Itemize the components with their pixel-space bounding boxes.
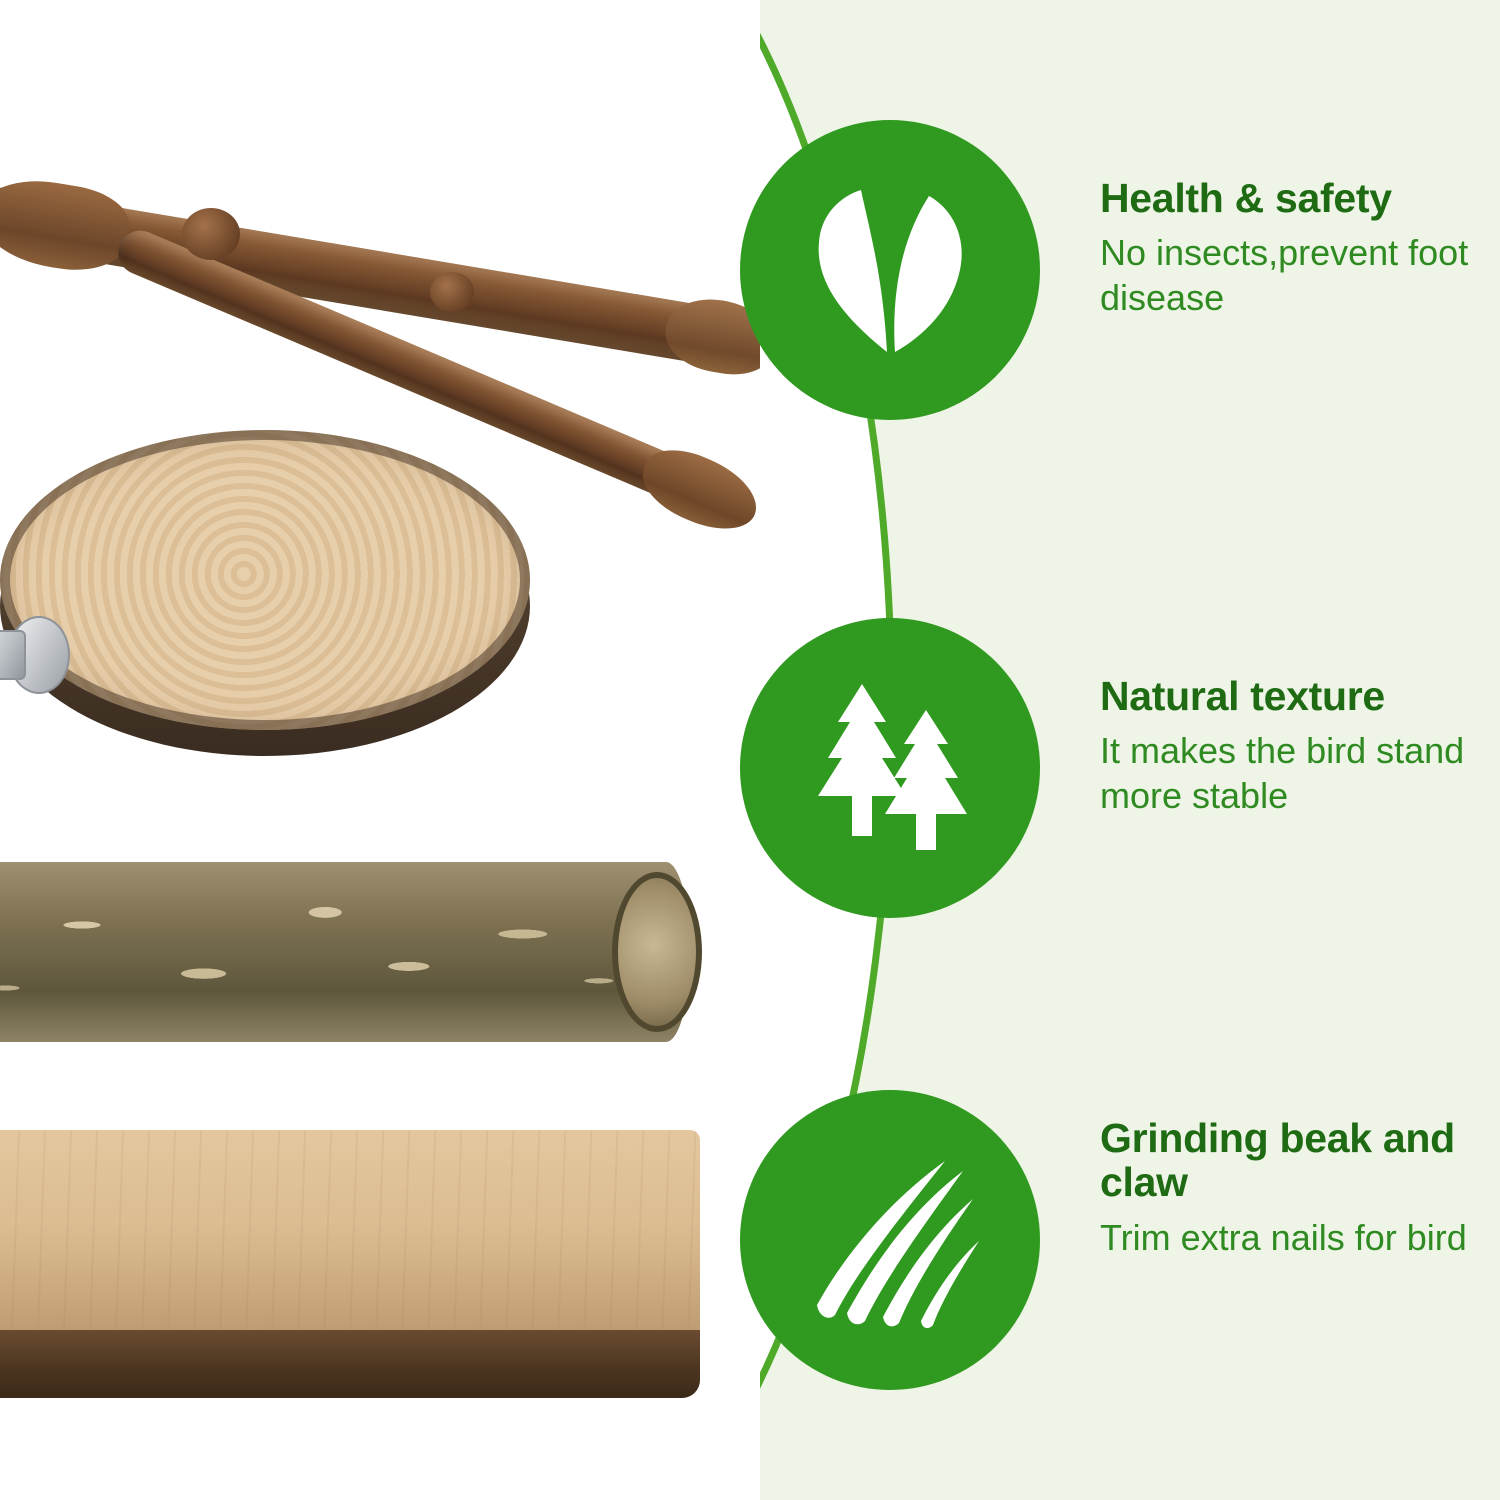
knobby-log-perch bbox=[0, 862, 690, 1042]
board-bark-underside bbox=[0, 1330, 700, 1398]
feature-item-health-safety: Health & safety No insects,prevent foot … bbox=[740, 120, 1500, 420]
flat-board-perch bbox=[0, 1130, 700, 1360]
feature-description: It makes the bird stand more stable bbox=[1100, 728, 1500, 818]
feature-title: Grinding beak and claw bbox=[1100, 1116, 1500, 1205]
feature-icon-badge bbox=[740, 1090, 1040, 1390]
product-feature-infographic: Health & safety No insects,prevent foot … bbox=[0, 0, 1500, 1500]
feature-title: Natural texture bbox=[1100, 674, 1500, 718]
feature-item-natural-texture: Natural texture It makes the bird stand … bbox=[740, 618, 1500, 918]
feature-description: Trim extra nails for bird bbox=[1100, 1215, 1500, 1260]
feature-icon-badge bbox=[740, 120, 1040, 420]
feature-icon-badge bbox=[740, 618, 1040, 918]
feature-item-grinding-beak-claw: Grinding beak and claw Trim extra nails … bbox=[740, 1090, 1500, 1390]
feature-description: No insects,prevent foot disease bbox=[1100, 230, 1500, 320]
feature-text-block: Natural texture It makes the bird stand … bbox=[1100, 618, 1500, 818]
feature-text-block: Grinding beak and claw Trim extra nails … bbox=[1100, 1090, 1500, 1260]
two-pine-trees-icon bbox=[790, 678, 990, 858]
claw-scratch-marks-icon bbox=[795, 1145, 985, 1335]
feature-title: Health & safety bbox=[1100, 176, 1500, 220]
branch-knot bbox=[430, 272, 474, 312]
disc-growth-rings bbox=[0, 430, 530, 730]
two-leaves-icon bbox=[795, 180, 985, 360]
screw-nut bbox=[0, 630, 26, 680]
feature-text-block: Health & safety No insects,prevent foot … bbox=[1100, 120, 1500, 320]
wood-disc-perch bbox=[0, 420, 560, 790]
branch-knot bbox=[182, 208, 240, 260]
knobby-log-end-grain bbox=[612, 872, 702, 1032]
disc-mounting-screw bbox=[0, 616, 70, 690]
product-photo-collage bbox=[0, 0, 760, 1500]
